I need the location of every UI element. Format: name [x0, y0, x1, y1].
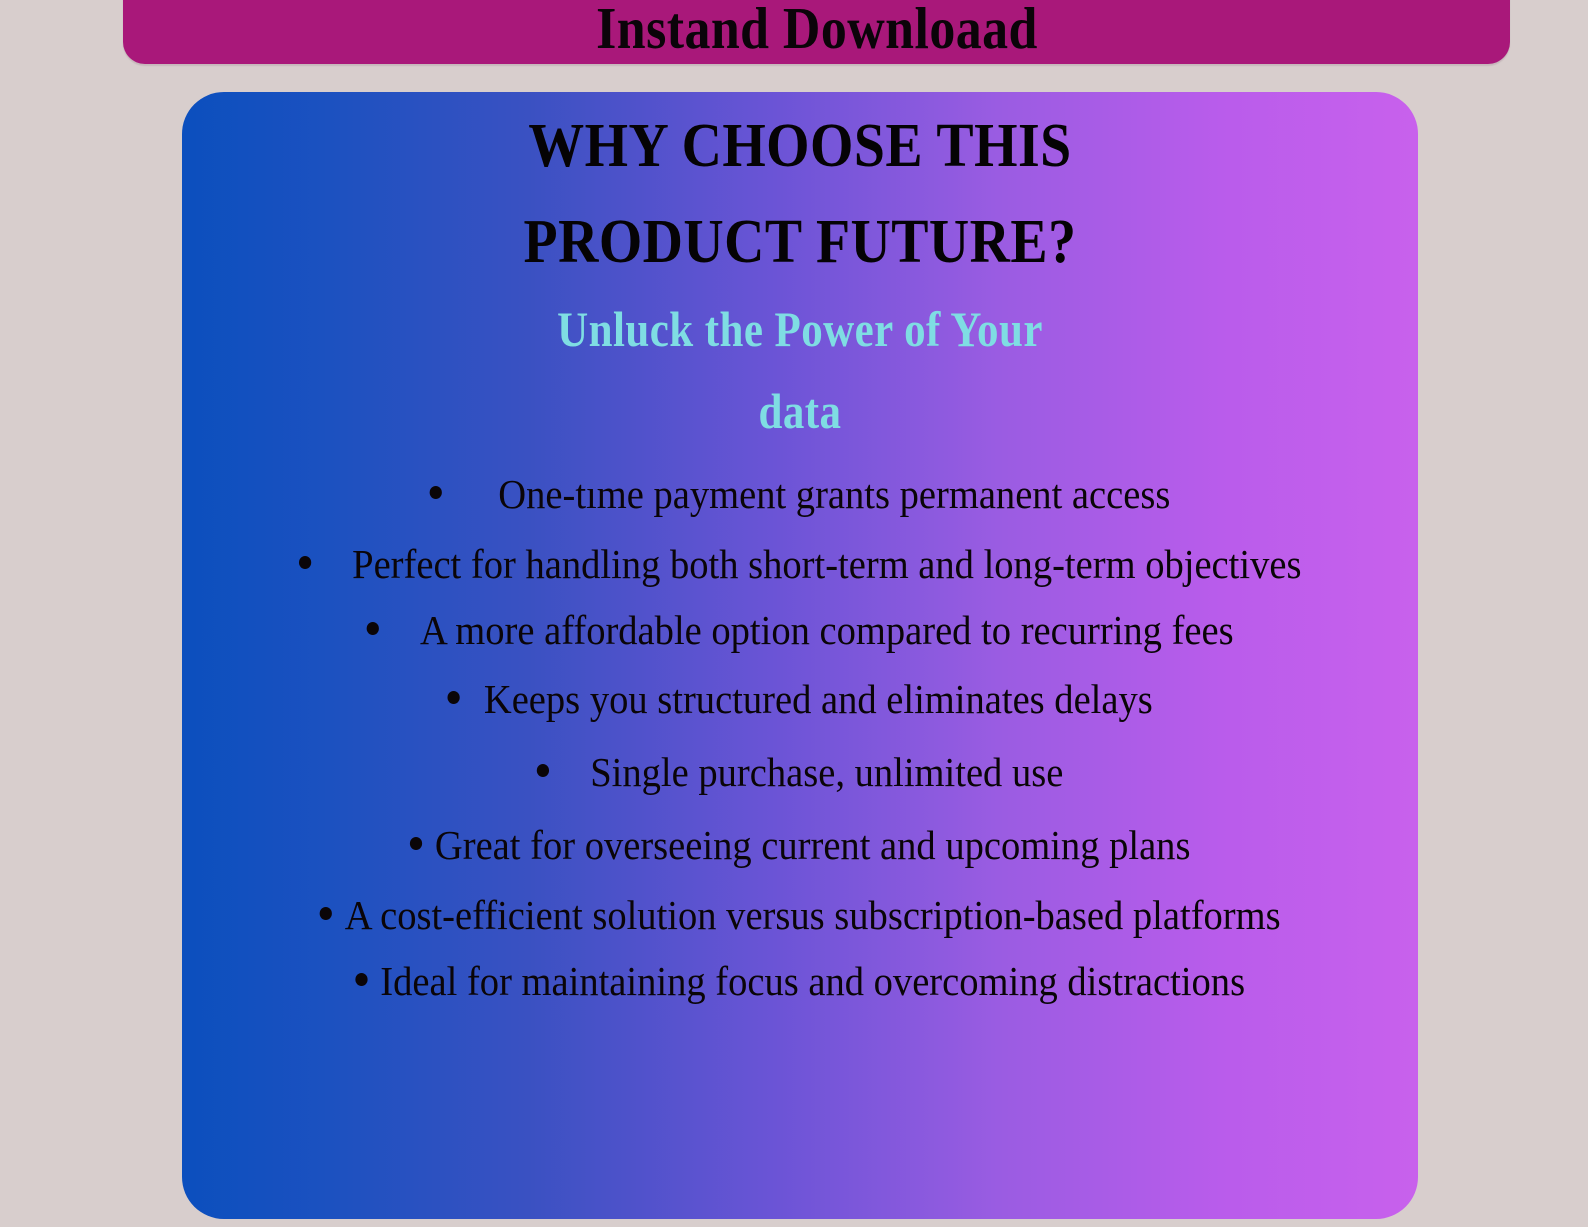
list-item: Great for overseeing current and upcomin…	[255, 809, 1345, 882]
card-content: WHY CHOOSE THIS PRODUCT FUTURE? Unluck t…	[220, 92, 1380, 1219]
list-item-label: Single purchase, unlimited use	[590, 749, 1063, 795]
bullet-dot-icon	[355, 973, 367, 986]
page-title-line-1: WHY CHOOSE THIS	[278, 92, 1322, 188]
list-item-label: Ideal for maintaining focus and overcomi…	[380, 958, 1245, 1004]
list-item: Ideal for maintaining focus and overcomi…	[255, 948, 1345, 1014]
list-item: A more affordable option compared to rec…	[255, 597, 1345, 663]
subtitle-line-2: data	[301, 366, 1299, 448]
list-item: A cost-efficient solution versus subscri…	[255, 882, 1345, 948]
bullet-dot-icon	[430, 486, 442, 499]
page-title-line-2: PRODUCT FUTURE?	[278, 188, 1322, 284]
list-item: One-tıme payment grants permanent access	[255, 458, 1345, 531]
bullet-dot-icon	[319, 907, 331, 920]
list-item-label: One-tıme payment grants permanent access	[498, 471, 1170, 517]
bullet-dot-icon	[410, 837, 422, 850]
list-item-label: A cost-efficient solution versus subscri…	[345, 892, 1281, 938]
list-item: Perfect for handling both short-term and…	[255, 531, 1345, 597]
list-item-label: A more affordable option compared to rec…	[420, 607, 1234, 653]
bullet-dot-icon	[299, 556, 311, 569]
feature-card: WHY CHOOSE THIS PRODUCT FUTURE? Unluck t…	[182, 92, 1418, 1219]
bullet-dot-icon	[537, 764, 549, 777]
header-banner: Instand Downloaad	[123, 0, 1510, 64]
list-item: Keeps you structured and eliminates dela…	[255, 663, 1345, 736]
list-item-label: Perfect for handling both short-term and…	[352, 541, 1301, 587]
subtitle-line-1: Unluck the Power of Your	[301, 284, 1299, 366]
bullet-dot-icon	[366, 622, 378, 635]
bullet-dot-icon	[447, 691, 459, 704]
list-item: Single purchase, unlimited use	[255, 736, 1345, 809]
list-item-label: Keeps you structured and eliminates dela…	[484, 676, 1153, 722]
benefits-list: One-tıme payment grants permanent access…	[220, 458, 1380, 1014]
list-item-label: Great for overseeing current and upcomin…	[435, 822, 1191, 868]
banner-title: Instand Downloaad	[596, 0, 1038, 64]
